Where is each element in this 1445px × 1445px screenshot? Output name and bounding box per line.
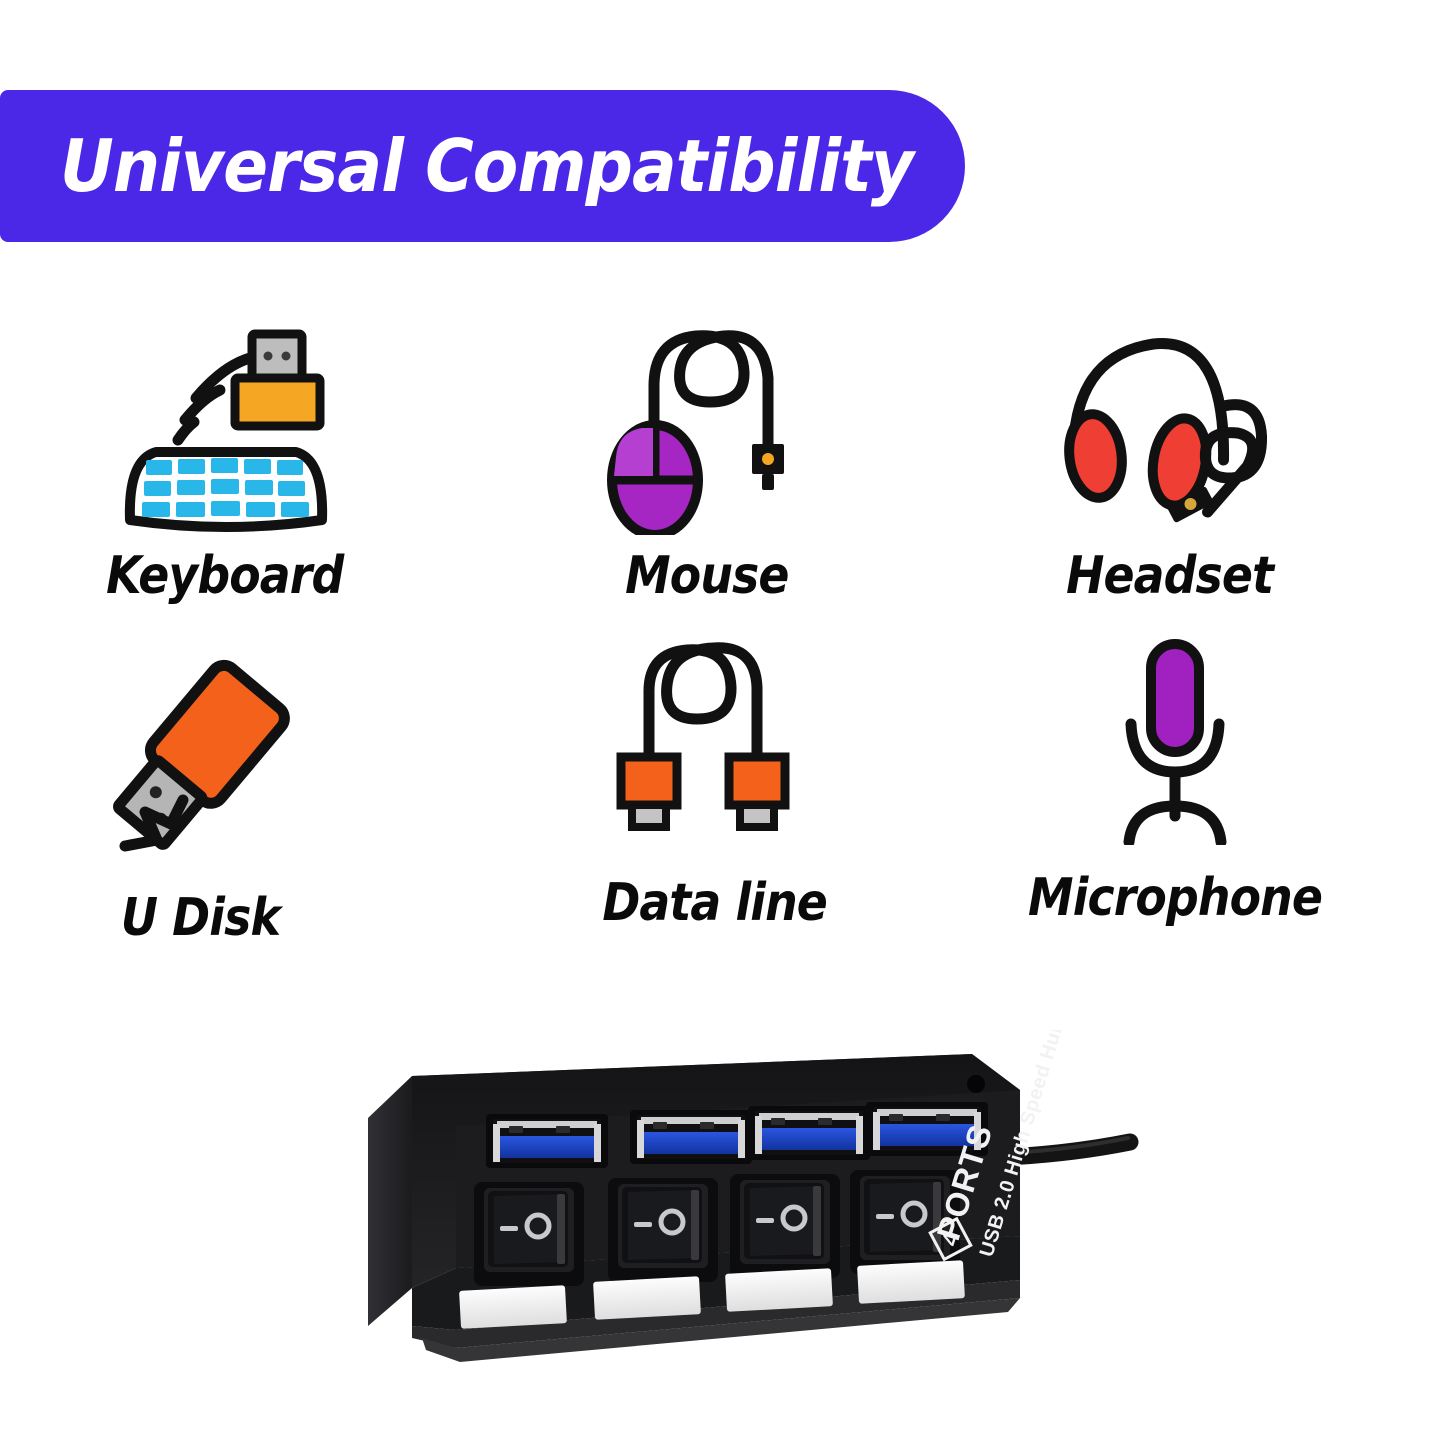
feature-label-keyboard: Keyboard <box>10 546 440 606</box>
led-indicator-3 <box>725 1268 833 1312</box>
power-switch-2 <box>608 1178 718 1282</box>
header-banner: Universal Compatibility <box>0 90 965 242</box>
status-led-pinhole <box>967 1075 985 1093</box>
feature-item-microphone: Microphone <box>960 630 1390 950</box>
usb-hub-product-image: PORTS 4 USB 2.0 High Speed Hub <box>360 1030 1150 1375</box>
feature-label-headset: Headset <box>955 546 1385 606</box>
usb-data-cable-icon <box>500 635 930 860</box>
compatibility-grid: Keyboard Mouse <box>0 320 1445 970</box>
page-title: Universal Compatibility <box>60 124 913 208</box>
headset-icon <box>955 320 1385 545</box>
usb-mouse-icon <box>492 320 922 545</box>
led-indicator-4 <box>857 1260 965 1304</box>
feature-label-dataline: Data line <box>500 873 930 933</box>
usb-port-1 <box>486 1114 608 1168</box>
power-switch-3 <box>730 1174 840 1278</box>
wireless-keyboard-icon <box>10 320 440 545</box>
feature-item-udisk: U Disk <box>0 650 415 970</box>
feature-item-headset: Headset <box>955 320 1385 640</box>
microphone-icon <box>960 630 1390 855</box>
usb-port-2 <box>630 1110 752 1164</box>
feature-item-mouse: Mouse <box>492 320 922 640</box>
usb-flash-drive-icon <box>0 650 415 875</box>
feature-item-keyboard: Keyboard <box>10 320 440 640</box>
usb-port-3 <box>748 1106 870 1160</box>
feature-label-mouse: Mouse <box>492 546 922 606</box>
led-indicator-2 <box>593 1276 701 1320</box>
feature-label-udisk: U Disk <box>0 888 415 948</box>
led-indicator-1 <box>459 1285 567 1329</box>
power-switch-1 <box>474 1182 584 1286</box>
feature-label-microphone: Microphone <box>960 868 1390 928</box>
feature-item-dataline: Data line <box>500 635 930 955</box>
